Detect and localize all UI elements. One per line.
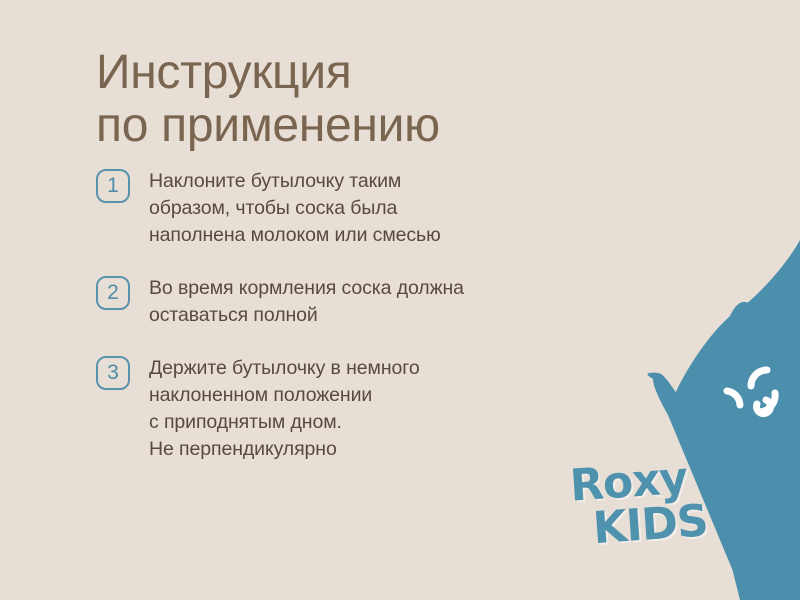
step-number-badge: 2: [96, 276, 130, 310]
list-item: 2 Во время кормления соска должна остава…: [96, 275, 576, 329]
roxy-kids-logo: Roxy KIDS: [569, 456, 711, 565]
logo-line-kids: KIDS: [592, 500, 710, 550]
step-text: Во время кормления соска должна оставать…: [149, 275, 464, 329]
list-item: 1 Наклоните бутылочку таким образом, что…: [96, 168, 576, 249]
instruction-steps-list: 1 Наклоните бутылочку таким образом, что…: [96, 168, 576, 463]
instruction-slide: Инструкция по применению 1 Наклоните бут…: [0, 0, 800, 600]
list-item: 3 Держите бутылочку в немного наклоненно…: [96, 355, 576, 463]
cat-ear-right: [695, 243, 800, 430]
cat-nose: [757, 400, 771, 414]
step-text: Наклоните бутылочку таким образом, чтобы…: [149, 168, 441, 249]
step-text: Держите бутылочку в немного наклоненном …: [149, 355, 420, 463]
cat-eye-left: [727, 391, 740, 405]
cat-cheek-arc: [760, 393, 775, 412]
step-number-badge: 1: [96, 169, 130, 203]
cat-lower-mass: [700, 340, 800, 600]
page-title: Инструкция по применению: [96, 46, 440, 152]
cat-eye-right: [751, 370, 767, 386]
cat-face-details: [727, 370, 775, 414]
step-number-badge: 3: [96, 356, 130, 390]
